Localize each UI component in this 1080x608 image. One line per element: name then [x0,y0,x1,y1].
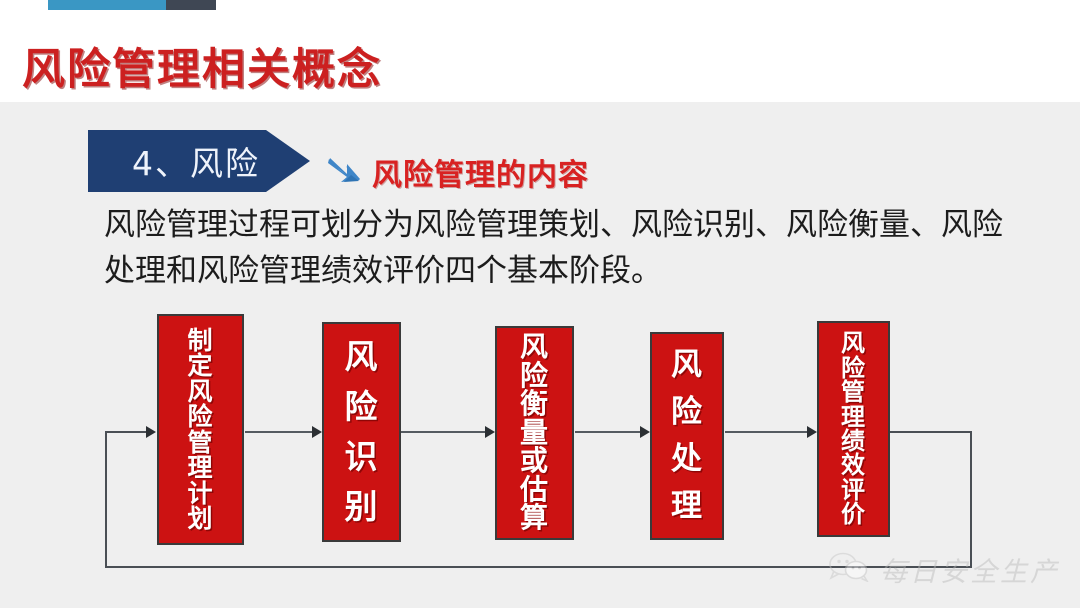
body-paragraph: 风险管理过程可划分为风险管理策划、风险识别、风险衡量、风险处理和风险管理绩效评价… [104,202,1004,294]
flow-box-char: 风 [671,350,703,382]
section-subtitle: 风险管理的内容 [372,150,589,194]
flow-box-char: 险 [841,356,866,380]
flow-box-char: 险 [520,362,549,391]
flow-box-char: 处 [671,444,703,476]
flow-box-char: 理 [841,405,866,429]
flow-box-char: 评 [841,478,866,502]
top-accent-segment-dark [166,0,216,10]
slide-header: 风险管理相关概念 [0,10,1080,102]
feedback-arrowhead [146,426,156,438]
flow-box-char: 险 [345,390,379,424]
connector-2-3-arrowhead [485,426,495,438]
flow-box-char: 划 [187,506,213,532]
flow-box-char: 险 [187,404,213,430]
feedback-line-right [970,431,972,568]
connector-1-2-arrowhead [312,426,322,438]
section-banner: 4、风险 [88,130,310,192]
flow-box-char: 险 [671,397,703,429]
watermark-text: 每日安全生产 [880,550,1060,589]
flow-box-measure[interactable]: 风 险 衡 量 或 估 算 [495,326,574,540]
page-title: 风险管理相关概念 [22,35,382,97]
connector-4-5-arrowhead [807,426,817,438]
flow-box-treat[interactable]: 风 险 处 理 [650,332,724,540]
flow-box-char: 或 [520,447,549,476]
top-accent-bar [0,0,1080,10]
flow-box-char: 价 [841,502,866,526]
feedback-line-left [105,431,107,568]
flow-box-plan[interactable]: 制 定 风 险 管 理 计 划 [157,314,244,545]
flow-box-char: 风 [187,379,213,405]
wechat-icon [828,552,872,587]
flow-box-char: 风 [841,331,866,355]
connector-3-4-arrowhead [640,426,650,438]
flow-box-char: 识 [345,440,379,474]
slide-body: 4、风险 风险管理的内容 风险管理过程可划分为风险管理策划、风险识别、风险衡量、… [0,102,1080,608]
feedback-line-top-left [105,431,151,433]
flow-box-char: 绩 [841,429,866,453]
flow-box-char: 风 [520,333,549,362]
connector-1-2 [245,431,319,433]
connector-3-4 [575,431,645,433]
flow-box-char: 效 [841,453,866,477]
connector-2-3 [401,431,490,433]
flow-box-char: 衡 [520,390,549,419]
flow-box-char: 别 [345,490,379,524]
flow-box-char: 管 [187,430,213,456]
flow-box-char: 计 [187,481,213,507]
top-accent-segment-blue [48,0,166,10]
flow-box-char: 管 [841,380,866,404]
watermark: 每日安全生产 [828,550,1060,589]
flow-box-char: 定 [187,353,213,379]
arrow-down-right-icon [326,154,366,188]
flow-box-char: 量 [520,419,549,448]
feedback-line-top-right [890,431,972,433]
flow-box-char: 理 [187,455,213,481]
connector-4-5 [725,431,812,433]
flow-box-char: 风 [345,340,379,374]
flow-box-identify[interactable]: 风 险 识 别 [322,322,401,542]
flow-box-char: 算 [520,504,549,533]
flow-box-char: 估 [520,476,549,505]
flow-box-char: 制 [187,328,213,354]
section-banner-label: 4、风险 [132,137,260,185]
flow-box-char: 理 [671,491,703,523]
flow-box-evaluate[interactable]: 风 险 管 理 绩 效 评 价 [817,321,890,537]
